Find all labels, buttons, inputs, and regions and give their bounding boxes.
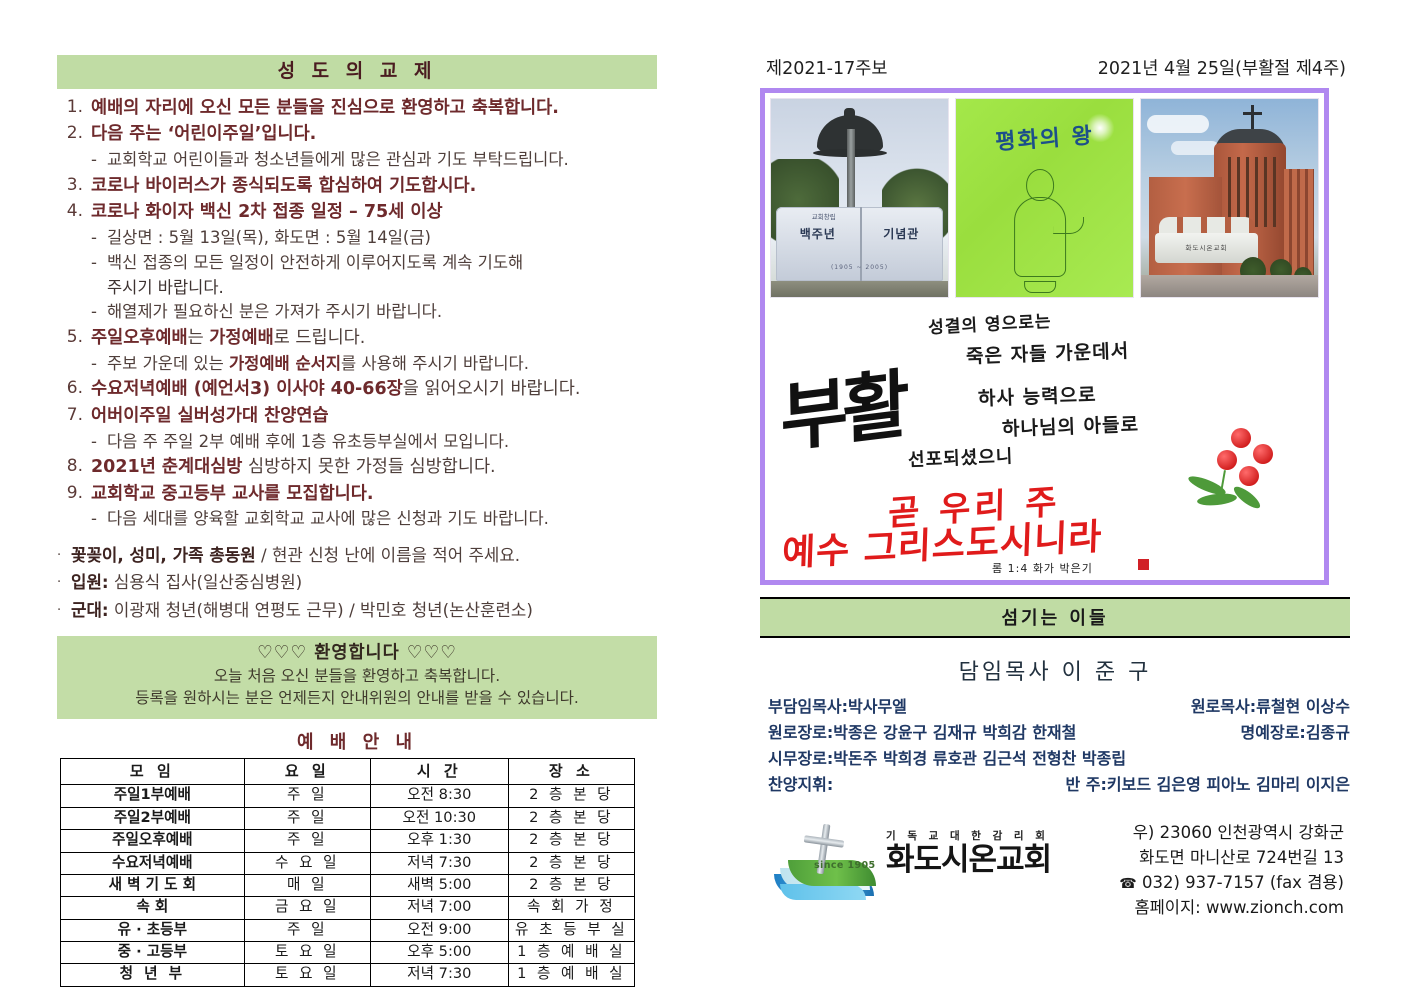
staff-label: 원로장로:	[768, 720, 833, 746]
jesus-feet	[1024, 281, 1056, 293]
king-of-peace-caption: 평화의 왕	[955, 115, 1134, 159]
cell-meeting: 수요저녁예배	[61, 852, 245, 874]
notice-item: 8. 2021년 춘계대심방 심방하지 못한 가정들 심방합니다.	[57, 454, 657, 481]
flower-leaf	[1197, 492, 1238, 507]
column-header-time: 시 간	[370, 758, 508, 785]
notice-subitem: - 교회학교 어린이들과 청소년들에게 많은 관심과 기도 부탁드립니다.	[57, 148, 657, 173]
cell-meeting: 주일오후예배	[61, 830, 245, 852]
dash-marker: -	[91, 251, 107, 276]
notice-number: 8.	[57, 454, 91, 480]
photo-king-of-peace: 평화의 왕	[955, 98, 1134, 298]
plaza-ground	[1141, 275, 1318, 297]
cell-day: 수 요 일	[244, 852, 370, 874]
calligraphy-artwork: 성결의 영으로는 죽은 자들 가운데서 부활 하사 능력으로 하나님의 아들로 …	[770, 304, 1319, 574]
cell-day: 금 요 일	[244, 897, 370, 919]
cell-meeting: 속 회	[61, 897, 245, 919]
notice-number: 1.	[57, 95, 91, 121]
bulletin-page: 성 도 의 교 제 1. 예배의 자리에 오신 모든 분들을 진심으로 환영하고…	[0, 0, 1403, 992]
notice-number: 2.	[57, 121, 91, 147]
monument-caption-left: 백주년	[800, 225, 836, 242]
column-header-place: 장 소	[508, 758, 634, 785]
monument-caption-years: (1905 ~ 2005)	[776, 264, 943, 271]
cell-place: 2 층 본 당	[508, 830, 634, 852]
notice-subitem: - 다음 주 주일 2부 예배 후에 1층 유초등부실에서 모입니다.	[57, 430, 657, 455]
notice-subtext: 해열제가 필요하신 분은 가져가 주시기 바랍니다.	[107, 300, 657, 325]
notice-text: 코로나 바이러스가 종식되도록 합심하여 기도합시다.	[91, 173, 657, 200]
notice-subitem: - 백신 접종의 모든 일정이 안전하게 이루어지도록 계속 기도해	[57, 251, 657, 276]
notice-number: 4.	[57, 199, 91, 225]
notice-subitem: - 해열제가 필요하신 분은 가져가 주시기 바랍니다.	[57, 300, 657, 325]
monument-caption-top: 교회창립	[776, 211, 943, 221]
notice-item: 6. 수요저녁예배 (예언서3) 이사야 40-66장을 읽어오시기 바랍니다.	[57, 376, 657, 403]
table-header-row: 모 임 요 일 시 간 장 소	[61, 758, 635, 785]
cell-meeting: 주일1부예배	[61, 785, 245, 807]
table-row: 청 년 부토 요 일저녁 7:301 층 예 배 실	[61, 964, 635, 986]
notice-subtext: 길상면 : 5월 13일(목), 화도면 : 5월 14일(금)	[107, 226, 657, 251]
notice-subtext: 다음 주 주일 2부 예배 후에 1층 유초등부실에서 모입니다.	[107, 430, 657, 455]
church-sign-text: 화도시온교회	[1155, 242, 1258, 252]
cell-day: 토 요 일	[244, 942, 370, 964]
left-column: 성 도 의 교 제 1. 예배의 자리에 오신 모든 분들을 진심으로 환영하고…	[57, 55, 657, 987]
table-row: 새 벽 기 도 회매 일새벽 5:002 층 본 당	[61, 874, 635, 896]
notice-item: 1. 예배의 자리에 오신 모든 분들을 진심으로 환영하고 축복합니다.	[57, 95, 657, 122]
staff-row: 찬양지휘: 반 주: 키보드 김은영 피아노 김마리 이지은	[768, 772, 1350, 798]
notice-number: 9.	[57, 481, 91, 507]
notice-item: 9. 교회학교 중고등부 교사를 모집합니다.	[57, 481, 657, 508]
welcome-box: ♡♡♡ 환영합니다 ♡♡♡ 오늘 처음 오신 분들을 환영하고 축복합니다. 등…	[57, 636, 657, 719]
notice-item: 4. 코로나 화이자 백신 2차 접종 일정 – 75세 이상	[57, 199, 657, 226]
notice-subtext: 교회학교 어린이들과 청소년들에게 많은 관심과 기도 부탁드립니다.	[107, 148, 657, 173]
notice-number: 5.	[57, 325, 91, 351]
cell-day: 주 일	[244, 830, 370, 852]
bullet-dot-icon: ·	[57, 542, 71, 569]
logo-mark: since 1905	[770, 822, 882, 904]
bullet-item: · 꽃꽂이, 성미, 가족 총동원 / 현관 신청 난에 이름을 적어 주세요.	[57, 542, 657, 569]
table-row: 중 · 고등부토 요 일오후 5:001 층 예 배 실	[61, 942, 635, 964]
notice-text: 코로나 화이자 백신 2차 접종 일정 – 75세 이상	[91, 199, 657, 226]
bullet-bold: 입원:	[71, 572, 109, 592]
cell-place: 속 회 가 정	[508, 897, 634, 919]
callig-line-1: 성결의 영으로는	[927, 307, 1052, 338]
staff-row: 시무장로: 박돈주 박희경 류호관 김근석 전형찬 박종립	[768, 746, 1350, 772]
column-header-day: 요 일	[244, 758, 370, 785]
church-side-windows	[1284, 169, 1314, 275]
address-line-2: 화도면 마니산로 724번길 13	[1070, 845, 1344, 870]
callig-resurrection-word: 부활	[780, 344, 905, 467]
staff-value-2: 키보드 김은영 피아노 김마리 이지은	[1107, 772, 1350, 798]
welcome-title: 환영합니다	[314, 643, 400, 663]
ground-strip	[771, 281, 948, 297]
column-header-meeting: 모 임	[61, 758, 245, 785]
notice-text: 어버이주일 실버성가대 찬양연습	[91, 403, 657, 430]
bullet-rest: 심용식 집사(일산중심병원)	[109, 572, 303, 592]
notice-subtext: 다음 세대를 양육할 교회학교 교사에 많은 신청과 기도 바랍니다.	[107, 507, 657, 532]
jesus-robe	[1014, 197, 1066, 277]
heart-icon-right: ♡♡♡	[407, 643, 457, 663]
table-row: 주일오후예배주 일오후 1:302 층 본 당	[61, 830, 635, 852]
contact-info: 우) 23060 인천광역시 강화군 화도면 마니산로 724번길 13 ☎ 0…	[1070, 820, 1350, 921]
church-entrance-canopy: 화도시온교회	[1155, 233, 1258, 263]
staff-value: 박사무엘	[848, 694, 907, 720]
cell-place: 2 층 본 당	[508, 874, 634, 896]
phone-number: 032) 937-7157 (fax 겸용)	[1142, 873, 1344, 892]
notice-subtext-continued: 주시기 바랍니다.	[57, 276, 657, 301]
heart-icon-left: ♡♡♡	[257, 643, 307, 663]
cell-meeting: 주일2부예배	[61, 807, 245, 829]
notice-subtext: 주보 가운데 있는 가정예배 순서지를 사용해 주시기 바랍니다.	[107, 352, 657, 377]
denomination-name: 기 독 교 대 한 감 리 회	[886, 828, 1051, 843]
cover-photo-frame: 교회창립 백주년 기념관 (1905 ~ 2005) 평화의 왕	[760, 88, 1329, 585]
notice-subitem: - 다음 세대를 양육할 교회학교 교사에 많은 신청과 기도 바랍니다.	[57, 507, 657, 532]
cell-time: 저녁 7:30	[370, 852, 508, 874]
address-line-1: 우) 23060 인천광역시 강화군	[1070, 820, 1344, 845]
cell-meeting: 중 · 고등부	[61, 942, 245, 964]
cell-time: 새벽 5:00	[370, 874, 508, 896]
notice-text: 예배의 자리에 오신 모든 분들을 진심으로 환영하고 축복합니다.	[91, 95, 657, 122]
website-line[interactable]: 홈페이지: www.zionch.com	[1070, 895, 1344, 920]
notice-text: 교회학교 중고등부 교사를 모집합니다.	[91, 481, 657, 508]
staff-label: 시무장로:	[768, 746, 833, 772]
cell-time: 오전 8:30	[370, 785, 508, 807]
cell-day: 주 일	[244, 785, 370, 807]
flower-berry	[1253, 444, 1273, 464]
cell-day: 주 일	[244, 807, 370, 829]
bullet-bold: 꽃꽂이, 성미, 가족 총동원	[71, 545, 256, 565]
bullet-item: · 입원: 심용식 집사(일산중심병원)	[57, 569, 657, 596]
jesus-line-drawing	[1002, 169, 1076, 287]
footer: since 1905 기 독 교 대 한 감 리 회 화도시온교회 우) 230…	[760, 820, 1350, 921]
cloud-decor	[1147, 115, 1209, 133]
bullet-body: 입원: 심용식 집사(일산중심병원)	[71, 569, 657, 596]
staff-label-2: 명예장로:	[1241, 720, 1306, 746]
church-name: 화도시온교회	[886, 845, 1051, 876]
callig-line-5: 선포되셨으니	[908, 442, 1014, 472]
staff-row: 부담임목사: 박사무엘 원로목사: 류철현 이상수	[768, 694, 1350, 720]
notice-item: 7. 어버이주일 실버성가대 찬양연습	[57, 403, 657, 430]
table-row: 수요저녁예배수 요 일저녁 7:302 층 본 당	[61, 852, 635, 874]
table-row: 속 회금 요 일저녁 7:00속 회 가 정	[61, 897, 635, 919]
cell-time: 저녁 7:30	[370, 964, 508, 986]
church-logo: since 1905 기 독 교 대 한 감 리 회 화도시온교회	[770, 820, 1070, 906]
bullet-bold: 군대:	[71, 600, 109, 620]
staff-row: 원로장로: 박종은 강윤구 김재규 박희감 한재철 명예장로: 김종규	[768, 720, 1350, 746]
staff-label: 찬양지휘:	[768, 772, 833, 798]
notice-number: 3.	[57, 173, 91, 199]
cross-icon	[1251, 105, 1254, 131]
dash-marker: -	[91, 226, 107, 251]
dash-marker: -	[91, 148, 107, 173]
logo-wordmark: 기 독 교 대 한 감 리 회 화도시온교회	[886, 828, 1051, 876]
notice-item: 3. 코로나 바이러스가 종식되도록 합심하여 기도합시다.	[57, 173, 657, 200]
worship-schedule-table: 모 임 요 일 시 간 장 소 주일1부예배주 일오전 8:302 층 본 당 …	[60, 758, 635, 987]
flower-berry	[1217, 450, 1237, 470]
logo-since-text: since 1905	[814, 860, 876, 871]
right-column: 제2021-17주보 2021년 4월 25일(부활절 제4주) 교회창립	[760, 55, 1350, 920]
flower-berry	[1231, 428, 1251, 448]
artist-seal-icon	[1138, 559, 1149, 570]
schedule-title: 예 배 안 내	[57, 728, 657, 754]
bullet-rest: / 현관 신청 난에 이름을 적어 주세요.	[256, 545, 520, 565]
cell-place: 2 층 본 당	[508, 785, 634, 807]
senior-pastor-line: 담임목사 이 준 구	[760, 654, 1350, 686]
staff-list: 부담임목사: 박사무엘 원로목사: 류철현 이상수 원로장로: 박종은 강윤구 …	[760, 694, 1350, 798]
cell-place: 유 초 등 부 실	[508, 919, 634, 941]
notice-text: 수요저녁예배 (예언서3) 이사야 40-66장을 읽어오시기 바랍니다.	[91, 376, 657, 403]
table-row: 주일2부예배주 일오전 10:302 층 본 당	[61, 807, 635, 829]
staff-value: 박돈주 박희경 류호관 김근석 전형찬 박종립	[833, 746, 1126, 772]
photo-centennial-monument: 교회창립 백주년 기념관 (1905 ~ 2005)	[770, 98, 949, 298]
dash-marker: -	[91, 430, 107, 455]
bulletin-number: 제2021-17주보	[766, 55, 887, 80]
notice-text: 2021년 춘계대심방 심방하지 못한 가정들 심방합니다.	[91, 454, 657, 481]
cell-time: 오전 10:30	[370, 807, 508, 829]
staff-label-2: 원로목사:	[1191, 694, 1256, 720]
cell-time: 저녁 7:00	[370, 897, 508, 919]
bullet-list: · 꽃꽂이, 성미, 가족 총동원 / 현관 신청 난에 이름을 적어 주세요.…	[57, 542, 657, 624]
notice-number: 6.	[57, 376, 91, 402]
dash-marker: -	[91, 352, 107, 377]
welcome-line-1: 오늘 처음 오신 분들을 환영하고 축복합니다.	[65, 665, 649, 687]
flower-berry	[1239, 466, 1259, 486]
welcome-title-row: ♡♡♡ 환영합니다 ♡♡♡	[65, 642, 649, 665]
notice-subtext: 백신 접종의 모든 일정이 안전하게 이루어지도록 계속 기도해	[107, 251, 657, 276]
callig-line-2: 죽은 자들 가운데서	[966, 336, 1130, 369]
photo-church-building: 화도시온교회	[1140, 98, 1319, 298]
flower-decoration	[1183, 424, 1293, 520]
phone-line: ☎ 032) 937-7157 (fax 겸용)	[1070, 870, 1344, 895]
callig-line-4: 하나님의 아들로	[1002, 410, 1140, 442]
welcome-line-2: 등록을 원하시는 분은 언제든지 안내위원의 안내를 받을 수 있습니다.	[65, 687, 649, 709]
bullet-item: · 군대: 이광재 청년(해병대 연평도 근무) / 박민호 청년(논산훈련소)	[57, 597, 657, 624]
photo-row: 교회창립 백주년 기념관 (1905 ~ 2005) 평화의 왕	[770, 98, 1319, 298]
jesus-arm	[1053, 217, 1084, 234]
staff-value-2: 김종규	[1306, 720, 1350, 746]
notice-list: 1. 예배의 자리에 오신 모든 분들을 진심으로 환영하고 축복합니다. 2.…	[57, 95, 657, 532]
bullet-body: 꽃꽂이, 성미, 가족 총동원 / 현관 신청 난에 이름을 적어 주세요.	[71, 542, 657, 569]
bullet-dot-icon: ·	[57, 597, 71, 624]
notice-item: 2. 다음 주는 ‘어린이주일’입니다.	[57, 121, 657, 148]
cell-time: 오전 9:00	[370, 919, 508, 941]
bulletin-date: 2021년 4월 25일(부활절 제4주)	[1098, 55, 1346, 80]
cell-day: 주 일	[244, 919, 370, 941]
bullet-dot-icon: ·	[57, 569, 71, 596]
monument-caption-main: 백주년 기념관	[776, 225, 943, 242]
notice-text: 다음 주는 ‘어린이주일’입니다.	[91, 121, 657, 148]
cell-meeting: 새 벽 기 도 회	[61, 874, 245, 896]
cell-place: 1 층 예 배 실	[508, 942, 634, 964]
notice-number: 7.	[57, 403, 91, 429]
cell-place: 2 층 본 당	[508, 807, 634, 829]
cloud-decor	[1171, 141, 1219, 155]
telephone-icon: ☎	[1119, 876, 1136, 892]
dash-marker: -	[91, 300, 107, 325]
cell-time: 오후 5:00	[370, 942, 508, 964]
notice-text: 주일오후예배는 가정예배로 드립니다.	[91, 325, 657, 352]
cell-place: 2 층 본 당	[508, 852, 634, 874]
monument-caption-right: 기념관	[883, 225, 919, 242]
cell-time: 오후 1:30	[370, 830, 508, 852]
cell-place: 1 층 예 배 실	[508, 964, 634, 986]
schedule-body: 주일1부예배주 일오전 8:302 층 본 당 주일2부예배주 일오전 10:3…	[61, 785, 635, 986]
open-book-monument: 교회창립 백주년 기념관 (1905 ~ 2005)	[776, 207, 943, 281]
staff-value: 박종은 강윤구 김재규 박희감 한재철	[833, 720, 1076, 746]
cell-day: 토 요 일	[244, 964, 370, 986]
callig-scripture-reference: 롬 1:4 화가 박은기	[992, 560, 1093, 574]
staff-label: 부담임목사:	[768, 694, 848, 720]
staff-value-2: 류철현 이상수	[1256, 694, 1350, 720]
notice-subitem: - 주보 가운데 있는 가정예배 순서지를 사용해 주시기 바랍니다.	[57, 352, 657, 377]
cell-meeting: 유 · 초등부	[61, 919, 245, 941]
monument-caption-top-text: 교회창립	[812, 211, 836, 221]
bulletin-header: 제2021-17주보 2021년 4월 25일(부활절 제4주)	[760, 55, 1350, 80]
table-row: 주일1부예배주 일오전 8:302 층 본 당	[61, 785, 635, 807]
fellowship-section-title: 성 도 의 교 제	[57, 55, 657, 89]
cell-meeting: 청 년 부	[61, 964, 245, 986]
dash-marker: -	[91, 507, 107, 532]
serving-people-title: 섬기는 이들	[760, 597, 1350, 638]
cell-day: 매 일	[244, 874, 370, 896]
bullet-body: 군대: 이광재 청년(해병대 연평도 근무) / 박민호 청년(논산훈련소)	[71, 597, 657, 624]
bullet-rest: 이광재 청년(해병대 연평도 근무) / 박민호 청년(논산훈련소)	[109, 600, 533, 620]
callig-line-3: 하사 능력으로	[978, 380, 1097, 411]
table-row: 유 · 초등부주 일오전 9:00유 초 등 부 실	[61, 919, 635, 941]
notice-subitem: - 길상면 : 5월 13일(목), 화도면 : 5월 14일(금)	[57, 226, 657, 251]
staff-label-2: 반 주:	[1065, 772, 1106, 798]
wave-shape-cyan	[780, 884, 866, 900]
notice-item: 5. 주일오후예배는 가정예배로 드립니다.	[57, 325, 657, 352]
